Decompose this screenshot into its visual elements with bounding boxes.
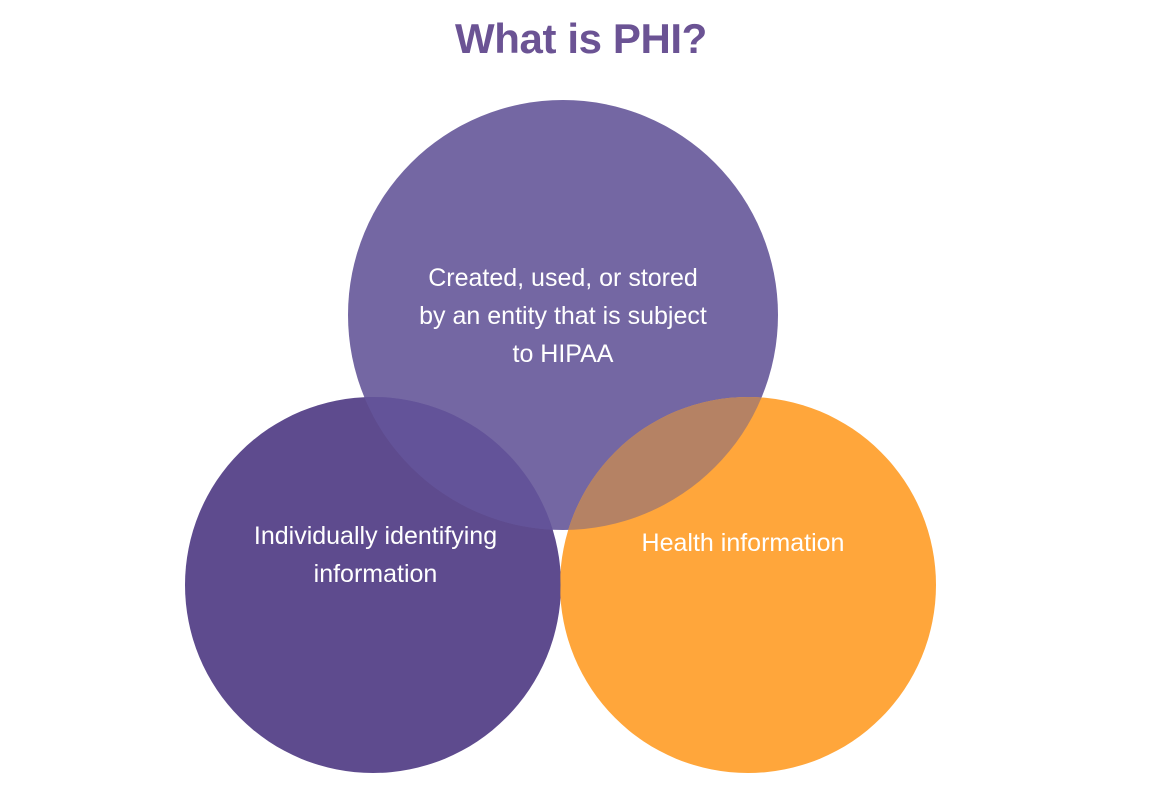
venn-diagram-svg bbox=[0, 0, 1162, 794]
phi-venn-diagram-page: What is PHI? bbox=[0, 0, 1162, 794]
venn-diagram: Created, used, or stored by an entity th… bbox=[0, 0, 1162, 794]
